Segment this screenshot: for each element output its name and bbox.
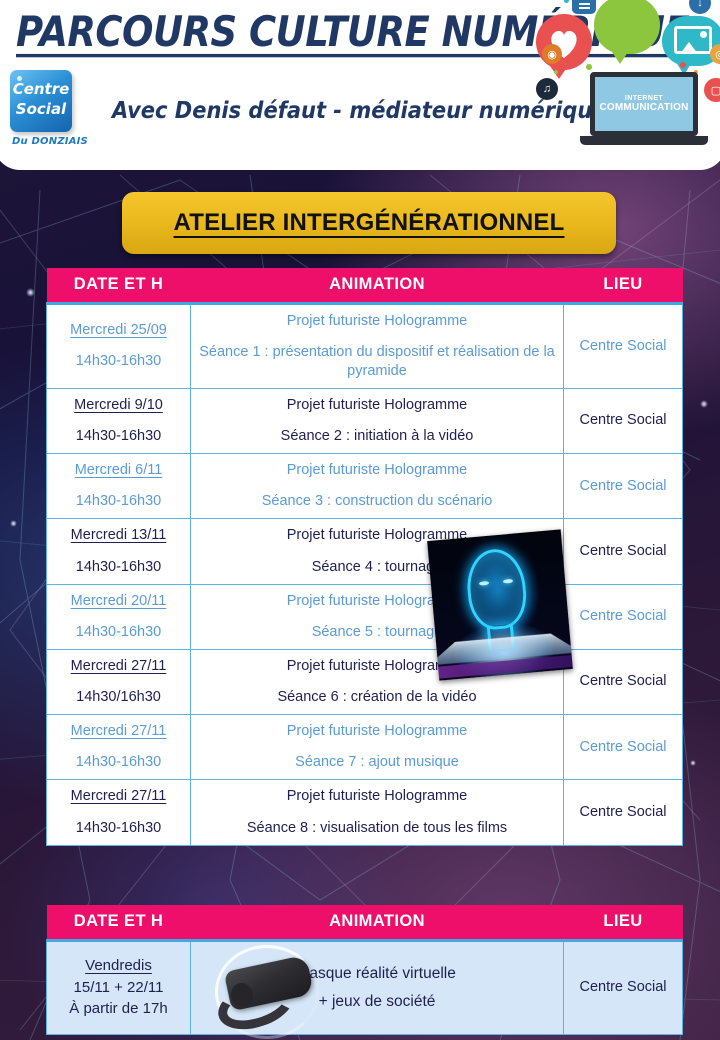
animation-line2: Séance 6 : création de la vidéo (197, 688, 557, 707)
hologram-head-image (427, 529, 573, 680)
vr-table: DATE ET H ANIMATION LIEU Vendredis 15/11… (46, 905, 683, 1035)
animation-line1: Projet futuriste Hologramme (197, 461, 557, 480)
animation-line2: Séance 2 : initiation à la vidéo (197, 427, 557, 446)
vr-table-body: Vendredis 15/11 + 22/11 À partir de 17h (47, 940, 683, 1034)
animation-cell: Projet futuriste HologrammeSéance 2 : in… (191, 388, 564, 453)
speech-mini-icon: ▢ (704, 78, 720, 102)
table-row: Mercredi 9/1014h30-16h30Projet futuriste… (47, 388, 683, 453)
table-row: Mercredi 27/1114h30-16h30Projet futurist… (47, 780, 683, 845)
glow-dot (10, 520, 17, 527)
lieu-cell: Centre Social (564, 388, 683, 453)
date-label: Mercredi 13/11 (53, 526, 184, 545)
col-header-lieu: LIEU (564, 905, 683, 940)
date-label: Mercredi 20/11 (53, 592, 184, 611)
time-label: 14h30-16h30 (53, 492, 184, 511)
laptop-text-line2: COMMUNICATION (599, 102, 688, 113)
lieu-cell: Centre Social (564, 649, 683, 714)
green-bubble-icon (594, 0, 660, 54)
schedule-table-wrapper: DATE ET H ANIMATION LIEU Mercredi 25/091… (46, 268, 682, 846)
time-label: 14h30-16h30 (53, 753, 184, 772)
lieu-cell: Centre Social (564, 454, 683, 519)
table-row: Mercredi 27/1114h30/16h30Projet futurist… (47, 649, 683, 714)
vr-date-cell: Vendredis 15/11 + 22/11 À partir de 17h (47, 940, 191, 1034)
date-label: Mercredi 25/09 (53, 321, 184, 340)
vr-headset-icon (211, 943, 337, 1039)
laptop-icon: INTERNET COMMUNICATION (590, 72, 698, 145)
table-header-row: DATE ET H ANIMATION LIEU (47, 905, 683, 940)
glow-dot (690, 760, 696, 766)
col-header-date: DATE ET H (47, 268, 191, 303)
date-label: Mercredi 6/11 (53, 461, 184, 480)
time-label: 14h30-16h30 (53, 623, 184, 642)
chat-mini-icon (572, 0, 596, 14)
date-cell: Mercredi 13/1114h30-16h30 (47, 519, 191, 584)
col-header-animation: ANIMATION (191, 268, 564, 303)
decor-dot (586, 64, 592, 70)
date-cell: Mercredi 25/0914h30-16h30 (47, 303, 191, 388)
col-header-animation: ANIMATION (191, 905, 564, 940)
animation-line2: Séance 8 : visualisation de tous les fil… (197, 819, 557, 838)
date-cell: Mercredi 27/1114h30-16h30 (47, 780, 191, 845)
laptop-screen: INTERNET COMMUNICATION (590, 72, 698, 136)
animation-cell: Projet futuriste HologrammeSéance 8 : vi… (191, 780, 564, 845)
atelier-banner-label: ATELIER INTERGÉNÉRATIONNEL (174, 209, 565, 237)
date-label: Mercredi 27/11 (53, 657, 184, 676)
table-row: Mercredi 27/1114h30-16h30Projet futurist… (47, 715, 683, 780)
animation-line1: Projet futuriste Hologramme (197, 722, 557, 741)
date-cell: Mercredi 27/1114h30/16h30 (47, 649, 191, 714)
target-mini-icon: ◉ (542, 44, 562, 64)
laptop-base (580, 136, 708, 145)
decor-dot (554, 70, 558, 74)
vr-table-wrapper: DATE ET H ANIMATION LIEU Vendredis 15/11… (46, 905, 682, 1035)
date-label: Mercredi 27/11 (53, 722, 184, 741)
logo-line2: Social (10, 100, 72, 118)
schedule-table-body: Mercredi 25/0914h30-16h30Projet futurist… (47, 303, 683, 845)
logo-line1: Centre (10, 80, 72, 98)
animation-line2: Séance 3 : construction du scénario (197, 492, 557, 511)
table-header-row: DATE ET H ANIMATION LIEU (47, 268, 683, 303)
communication-graphic: ↓ ♫ ◉ ▢ ◎ INTERNET COMMUNICATION (534, 0, 720, 164)
table-row: Mercredi 13/1114h30-16h30Projet futurist… (47, 519, 683, 584)
animation-line1: Projet futuriste Hologramme (197, 312, 557, 331)
heart-bubble-icon (536, 14, 592, 70)
decor-dot (680, 62, 686, 68)
schedule-table-head: DATE ET H ANIMATION LIEU (47, 268, 683, 303)
animation-line2: Séance 1 : présentation du dispositif et… (197, 343, 557, 381)
vr-lieu-cell: Centre Social (564, 940, 683, 1034)
date-cell: Mercredi 6/1114h30-16h30 (47, 454, 191, 519)
logo-caption: Du DONZIAIS (4, 136, 96, 147)
music-mini-icon: ♫ (536, 78, 558, 100)
page-subtitle: Avec Denis défaut - médiateur numérique (112, 97, 607, 123)
decor-dot (564, 0, 569, 3)
glow-dot (700, 400, 708, 408)
animation-cell: Projet futuriste HologrammeSéance 7 : aj… (191, 715, 564, 780)
download-mini-icon: ↓ (689, 0, 711, 14)
animation-line1: Projet futuriste Hologramme (197, 787, 557, 806)
hologram-head-shape (464, 547, 529, 632)
laptop-text-line1: INTERNET (625, 95, 663, 102)
lieu-cell: Centre Social (564, 519, 683, 584)
vr-time-label: À partir de 17h (69, 1000, 167, 1017)
lieu-cell: Centre Social (564, 584, 683, 649)
date-label: Mercredi 27/11 (53, 787, 184, 806)
vr-animation-cell: Casque réalité virtuelle + jeux de socié… (191, 940, 564, 1034)
col-header-lieu: LIEU (564, 268, 683, 303)
lieu-cell: Centre Social (564, 715, 683, 780)
lieu-cell: Centre Social (564, 780, 683, 845)
table-row: Mercredi 20/1114h30-16h30Projet futurist… (47, 584, 683, 649)
atelier-banner[interactable]: ATELIER INTERGÉNÉRATIONNEL (122, 192, 616, 254)
vr-day-label: Vendredis (53, 955, 184, 977)
time-label: 14h30-16h30 (53, 352, 184, 371)
date-label: Mercredi 9/10 (53, 396, 184, 415)
date-cell: Mercredi 27/1114h30-16h30 (47, 715, 191, 780)
schedule-table: DATE ET H ANIMATION LIEU Mercredi 25/091… (46, 268, 683, 846)
table-row: Mercredi 6/1114h30-16h30Projet futuriste… (47, 454, 683, 519)
date-cell: Mercredi 9/1014h30-16h30 (47, 388, 191, 453)
date-cell: Mercredi 20/1114h30-16h30 (47, 584, 191, 649)
lieu-cell: Centre Social (564, 303, 683, 388)
animation-line2: Séance 7 : ajout musique (197, 753, 557, 772)
table-row: Vendredis 15/11 + 22/11 À partir de 17h (47, 940, 683, 1034)
animation-cell: Projet futuriste HologrammeSéance 1 : pr… (191, 303, 564, 388)
time-label: 14h30/16h30 (53, 688, 184, 707)
time-label: 14h30-16h30 (53, 819, 184, 838)
logo-tile: Centre Social (10, 70, 72, 132)
glow-dot (26, 288, 35, 297)
poster-background: PARCOURS CULTURE NUMÉRIQUE Avec Denis dé… (0, 0, 720, 1040)
animation-line1: Projet futuriste Hologramme (197, 396, 557, 415)
time-label: 14h30-16h30 (53, 427, 184, 446)
poster-header: PARCOURS CULTURE NUMÉRIQUE Avec Denis dé… (0, 0, 720, 170)
vr-table-head: DATE ET H ANIMATION LIEU (47, 905, 683, 940)
time-label: 14h30-16h30 (53, 558, 184, 577)
animation-cell: Projet futuriste HologrammeSéance 3 : co… (191, 454, 564, 519)
centre-social-logo: Centre Social Du DONZIAIS (4, 70, 96, 147)
vr-dates-label: 15/11 + 22/11 (74, 979, 164, 996)
col-header-date: DATE ET H (47, 905, 191, 940)
table-row: Mercredi 25/0914h30-16h30Projet futurist… (47, 303, 683, 388)
